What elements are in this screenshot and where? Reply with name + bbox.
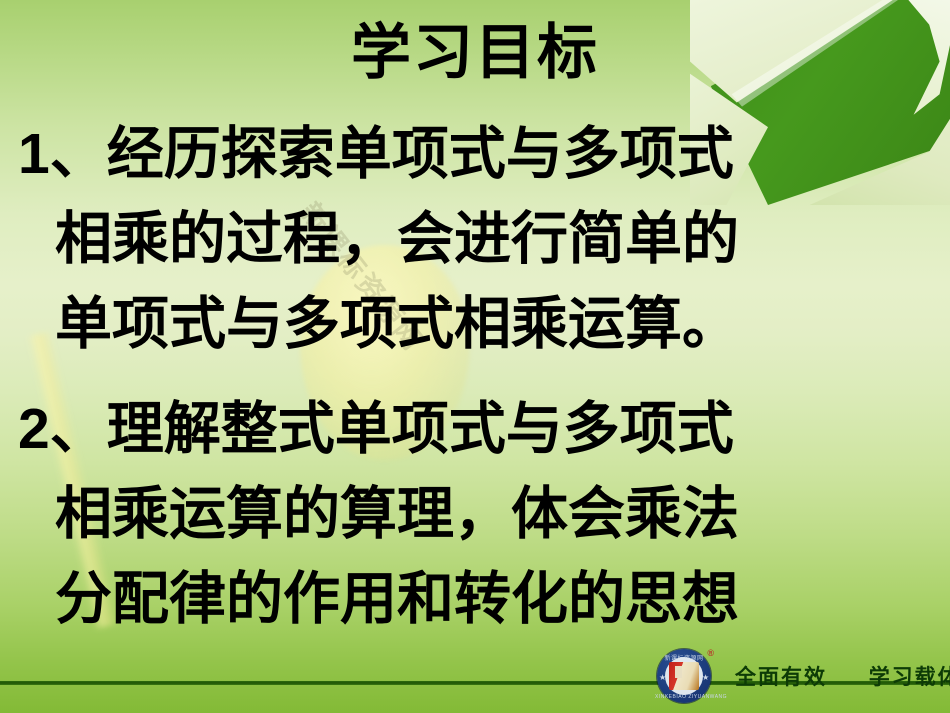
objective-2-line-1: 2、理解整式单项式与多项式 [0,387,950,472]
footer-bar: 新课标资源网 XINKEBIAO ZIYUANWANG ★ ★ ® 全面有效 学… [655,645,950,707]
objective-1-line-1: 1、经历探索单项式与多项式 [0,112,950,197]
slide-canvas: 新课标资源网 学习目标 1、经历探索单项式与多项式 相乘的过程，会进行简单的 单… [0,0,950,713]
objective-1-line-3: 单项式与多项式相乘运算。 [0,282,950,367]
footer-slogan-left: 全面有效 [735,666,827,689]
logo-star-left-icon: ★ [659,674,667,682]
logo-registered-mark: ® [707,648,714,658]
objective-1-line-2: 相乘的过程，会进行简单的 [0,197,950,282]
footer-slogan-right: 学习载体 [869,666,950,689]
logo-emblem-shape [669,662,699,690]
brand-logo-icon: 新课标资源网 XINKEBIAO ZIYUANWANG ★ ★ ® [655,647,713,705]
footer-slogan: 全面有效 学习载体 [735,661,950,691]
objective-2-line-2: 相乘运算的算理，体会乘法 [0,472,950,557]
logo-emblem-notch [675,666,682,678]
objective-item-2: 2、理解整式单项式与多项式 相乘运算的算理，体会乘法 分配律的作用和转化的思想 [0,387,950,642]
objective-2-line-3: 分配律的作用和转化的思想 [0,557,950,642]
objective-item-1: 1、经历探索单项式与多项式 相乘的过程，会进行简单的 单项式与多项式相乘运算。 [0,112,950,367]
logo-star-right-icon: ★ [702,674,710,682]
slide-title: 学习目标 [0,18,950,87]
objectives-list: 1、经历探索单项式与多项式 相乘的过程，会进行简单的 单项式与多项式相乘运算。 … [0,112,950,642]
